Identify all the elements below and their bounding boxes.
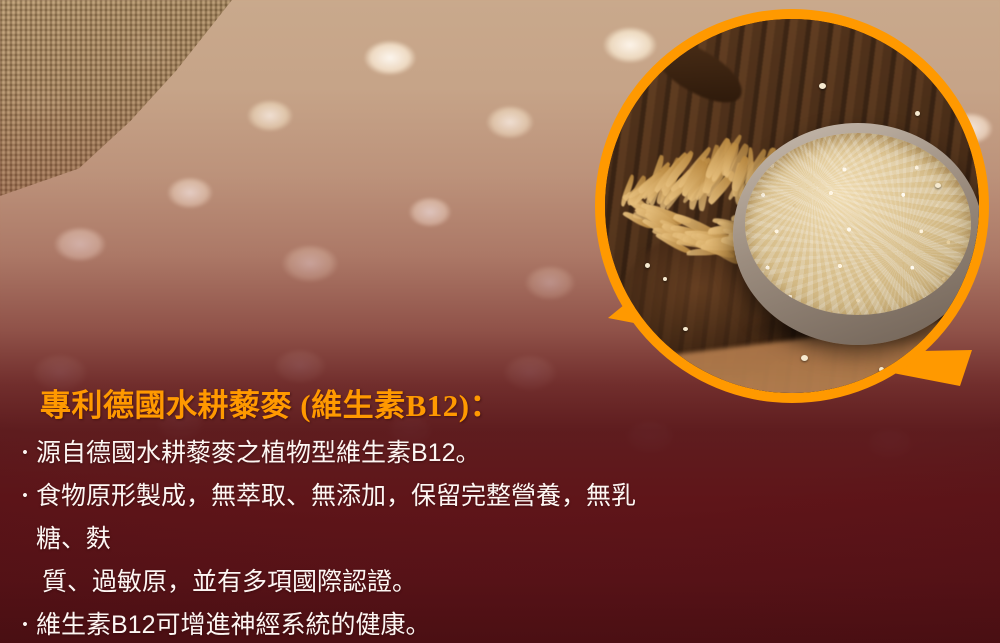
feature-list-item: ・食物原形製成，無萃取、無添加，保留完整營養，無乳糖、麩質、過敏原，並有多項國際… [14,475,660,604]
feature-text-line: 維生素B12可增進神經系統的健康。 [36,611,430,639]
feature-list-item-text: 維生素B12可增進神經系統的健康。 [36,604,660,643]
product-banner: 專利德國水耕藜麥 (維生素B12)： ・源自德國水耕藜麥之植物型維生素B12。・… [0,0,1000,643]
quinoa-seed-texture [745,133,971,315]
feature-list-item-text: 食物原形製成，無萃取、無添加，保留完整營養，無乳糖、麩質、過敏原，並有多項國際認… [36,475,660,604]
feature-list-item: ・維生素B12可增進神經系統的健康。 [14,604,660,643]
spilled-seed [663,277,667,281]
bullet-marker-icon: ・ [14,604,36,643]
feature-list-item: ・源自德國水耕藜麥之植物型維生素B12。 [14,432,660,475]
page-title: 專利德國水耕藜麥 (維生素B12)： [0,386,660,426]
bullet-marker-icon: ・ [14,432,36,475]
feature-list: ・源自德國水耕藜麥之植物型維生素B12。・食物原形製成，無萃取、無添加，保留完整… [0,432,660,643]
quinoa-bowl [733,123,979,345]
feature-list-item-text: 源自德國水耕藜麥之植物型維生素B12。 [36,432,660,475]
bullet-marker-icon: ・ [14,475,36,604]
spilled-seed [879,367,884,372]
spilled-seed [819,83,826,89]
spilled-seed [801,355,808,361]
callout-photo-quinoa-bowl [605,19,979,393]
quinoa-callout [592,6,992,406]
quinoa-seeds [745,133,971,315]
spilled-seed [915,111,920,116]
feature-text-line: 質、過敏原，並有多項國際認證。 [36,561,660,604]
feature-text-line: 源自德國水耕藜麥之植物型維生素B12。 [36,439,480,467]
spilled-seed [683,327,688,331]
spilled-seed [935,183,941,188]
spilled-seed [645,263,650,268]
text-content: 專利德國水耕藜麥 (維生素B12)： ・源自德國水耕藜麥之植物型維生素B12。・… [0,386,660,643]
feature-text-line: 食物原形製成，無萃取、無添加，保留完整營養，無乳糖、麩 [36,482,636,553]
